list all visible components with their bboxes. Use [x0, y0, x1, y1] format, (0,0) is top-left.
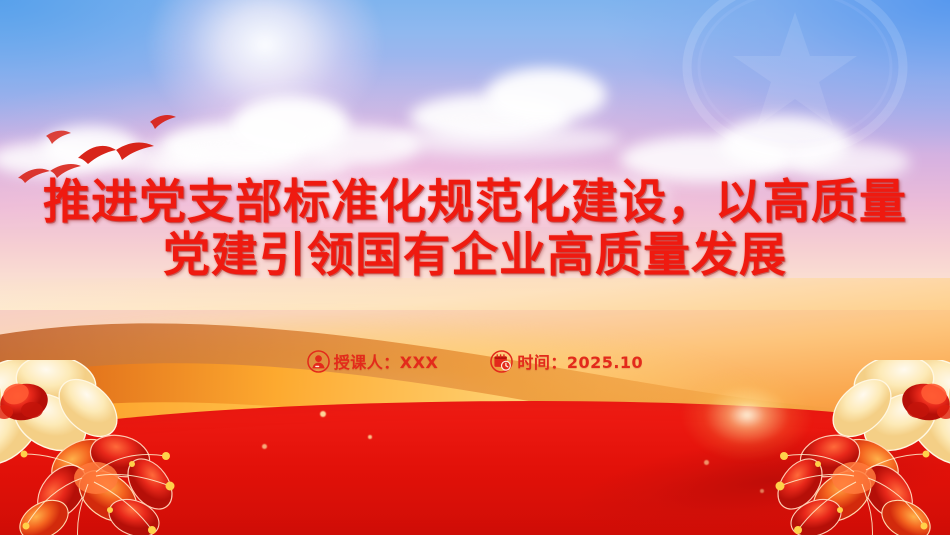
meta-date-label: 时间：2025.10 [517, 349, 643, 373]
title-line-1: 推进党支部标准化规范化建设，以高质量 [0, 176, 950, 229]
title-line-2: 党建引领国有企业高质量发展 [0, 229, 950, 282]
golden-ribbon-region [0, 278, 950, 535]
sparkle-dot [320, 411, 326, 417]
presentation-slide: 推进党支部标准化规范化建设，以高质量 党建引领国有企业高质量发展 授课人：XXX [0, 0, 950, 535]
slide-meta-row: 授课人：XXX 时间：2025.10 [0, 349, 950, 373]
calendar-clock-icon [490, 350, 513, 373]
meta-date: 时间：2025.10 [490, 349, 643, 373]
party-emblem-watermark-icon [680, 0, 910, 162]
sparkle-dot [368, 435, 372, 439]
peony-flower-left-icon [0, 360, 284, 535]
slide-title: 推进党支部标准化规范化建设，以高质量 党建引领国有企业高质量发展 [0, 176, 950, 282]
peony-flower-right-icon [666, 360, 950, 535]
meta-presenter-label: 授课人：XXX [334, 349, 439, 373]
meta-presenter: 授课人：XXX [307, 349, 439, 373]
user-icon [307, 350, 330, 373]
